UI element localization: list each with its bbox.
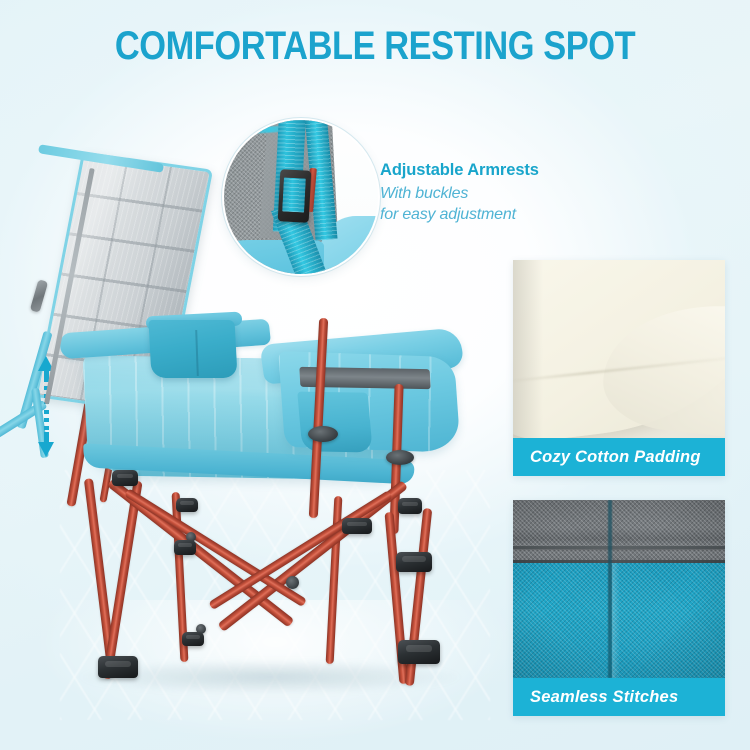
x-brace-pivot — [286, 576, 299, 589]
zipper-pull-tab — [30, 279, 48, 313]
callout-title: Adjustable Armrests — [380, 160, 560, 180]
armrest-buckle-closeup-circle — [222, 118, 380, 276]
frame-leg — [102, 481, 142, 680]
plastic-foot — [176, 498, 198, 512]
cotton-padding-photo — [513, 260, 725, 438]
plastic-foot — [398, 640, 440, 664]
panel-label-text-stitches: Seamless Stitches — [530, 688, 678, 707]
plastic-foot — [398, 498, 422, 514]
panel-label-text-padding: Cozy Cotton Padding — [530, 448, 701, 467]
cup-holder-secondary — [297, 391, 373, 452]
seamless-stitches-photo — [513, 500, 725, 678]
padding-left-shading — [513, 260, 543, 438]
stitches-photo-vignette — [513, 500, 725, 678]
marketing-image-canvas: COMFORTABLE RESTING SPOT — [0, 0, 750, 750]
armrest-mount-hardware — [386, 450, 414, 465]
frame-x-brace — [124, 488, 307, 607]
plastic-foot — [98, 656, 138, 678]
panel-label-bar-stitches: Seamless Stitches — [513, 678, 725, 716]
feature-panel-cozy-cotton-padding: Cozy Cotton Padding — [513, 260, 725, 476]
plastic-foot — [112, 470, 138, 486]
panel-label-bar-padding: Cozy Cotton Padding — [513, 438, 725, 476]
page-title: COMFORTABLE RESTING SPOT — [53, 24, 698, 68]
arrow-down-icon — [38, 442, 54, 457]
plastic-foot — [182, 632, 204, 646]
callout-subtitle-line-2: for easy adjustment — [380, 204, 560, 225]
cup-holder — [148, 320, 237, 378]
armrest-height-adjust-arrows — [34, 356, 60, 458]
armrest-mount-hardware — [308, 426, 338, 442]
callout-text-block: Adjustable Armrests With buckles for eas… — [380, 160, 560, 225]
frame-x-brace — [208, 490, 393, 610]
plastic-foot — [342, 518, 372, 534]
plastic-foot — [174, 540, 196, 555]
closeup-buckle-webbing-slot — [282, 177, 306, 212]
callout-subtitle-line-1: With buckles — [380, 183, 560, 204]
feature-panel-seamless-stitches: Seamless Stitches — [513, 500, 725, 716]
callout-subtitle: With buckles for easy adjustment — [380, 183, 560, 225]
plastic-foot — [396, 552, 432, 572]
